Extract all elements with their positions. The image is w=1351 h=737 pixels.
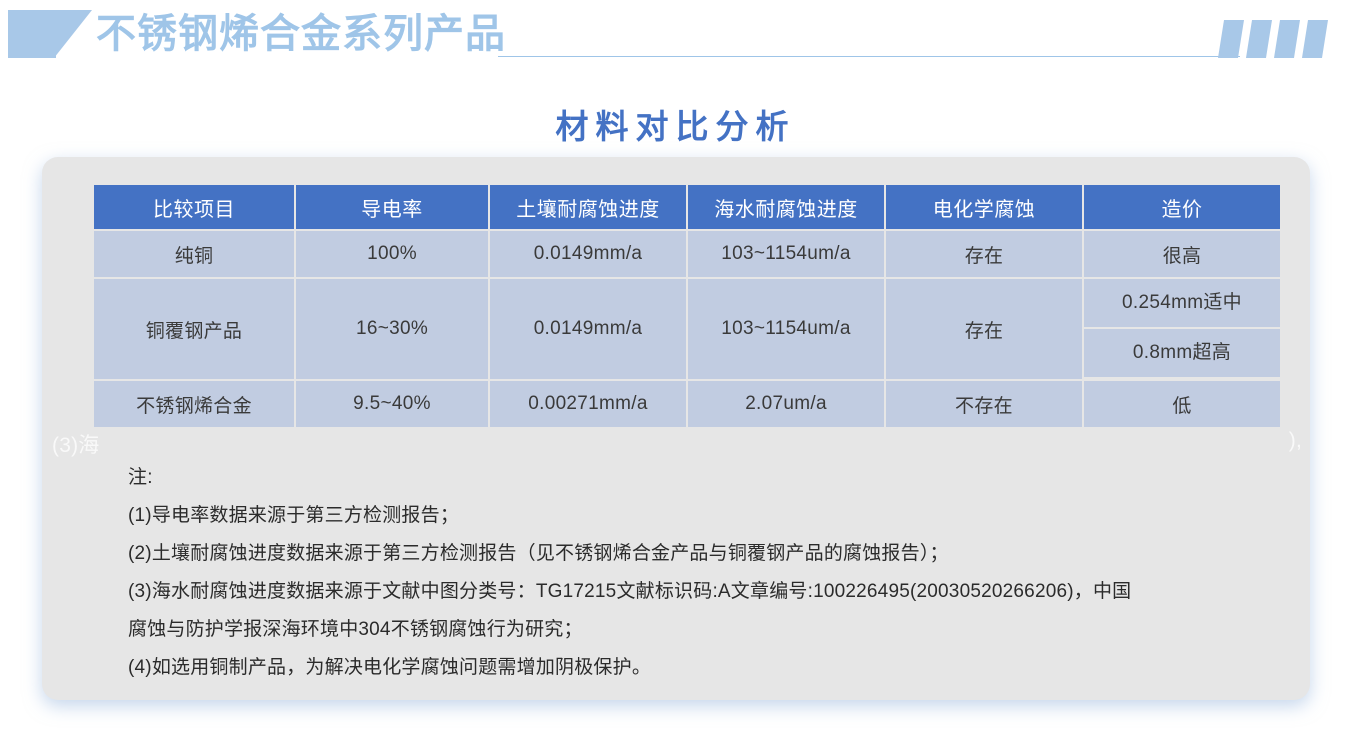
cell-conductivity: 100% (296, 231, 488, 277)
cell-soil: 0.00271mm/a (490, 381, 686, 427)
cell-conductivity: 9.5~40% (296, 381, 488, 427)
column-header-electro: 电化学腐蚀 (886, 185, 1082, 229)
cell-cost: 低 (1084, 381, 1280, 427)
cell-name: 铜覆钢产品 (94, 279, 294, 379)
header-underline (498, 56, 1240, 57)
decor-bar-4 (1302, 20, 1328, 58)
cell-seawater: 103~1154um/a (688, 231, 884, 277)
header-decor-bars (1221, 20, 1337, 58)
decor-bar-1 (1218, 20, 1244, 58)
watermark-left: (3)海 (52, 429, 99, 459)
cell-conductivity: 16~30% (296, 279, 488, 379)
note-item-1: (1)导电率数据来源于第三方检测报告； (128, 497, 1308, 535)
header-accent-wedge (54, 10, 92, 58)
table-row: 铜覆钢产品 16~30% 0.0149mm/a 103~1154um/a 存在 … (94, 279, 1280, 379)
column-header-cost: 造价 (1084, 185, 1280, 229)
note-item-2: (2)土壤耐腐蚀进度数据来源于第三方检测报告（见不锈钢烯合金产品与铜覆钢产品的腐… (128, 535, 1308, 573)
decor-bar-3 (1274, 20, 1300, 58)
note-item-4: (4)如选用铜制产品，为解决电化学腐蚀问题需增加阴极保护。 (128, 649, 1308, 687)
cell-soil: 0.0149mm/a (490, 279, 686, 379)
note-item-3-cont: 腐蚀与防护学报深海环境中304不锈钢腐蚀行为研究； (128, 611, 1308, 649)
cell-name: 纯铜 (94, 231, 294, 277)
page-header: 不锈钢烯合金系列产品 (0, 0, 1351, 80)
decor-bar-2 (1246, 20, 1272, 58)
cell-cost-split: 0.254mm适中 0.8mm超高 (1084, 279, 1280, 379)
header-accent-block (8, 10, 56, 58)
content-card: (3)海 ), 比较项目 导电率 土壤耐腐蚀进度 海水耐腐蚀进度 电化学腐蚀 造… (42, 157, 1310, 700)
notes-heading: 注: (128, 459, 1308, 497)
header-title: 不锈钢烯合金系列产品 (96, 8, 506, 60)
cell-seawater: 103~1154um/a (688, 279, 884, 379)
cell-soil: 0.0149mm/a (490, 231, 686, 277)
notes-section: 注: (1)导电率数据来源于第三方检测报告； (2)土壤耐腐蚀进度数据来源于第三… (128, 459, 1308, 687)
column-header-conductivity: 导电率 (296, 185, 488, 229)
cell-cost-option-a: 0.254mm适中 (1084, 279, 1280, 327)
table-header-row: 比较项目 导电率 土壤耐腐蚀进度 海水耐腐蚀进度 电化学腐蚀 造价 (94, 185, 1280, 229)
note-item-3: (3)海水耐腐蚀进度数据来源于文献中图分类号：TG17215文献标识码:A文章编… (128, 573, 1308, 611)
background-watermark: (3)海 ), (52, 429, 1302, 459)
column-header-soil: 土壤耐腐蚀进度 (490, 185, 686, 229)
table-row: 纯铜 100% 0.0149mm/a 103~1154um/a 存在 很高 (94, 231, 1280, 277)
column-header-seawater: 海水耐腐蚀进度 (688, 185, 884, 229)
comparison-table: 比较项目 导电率 土壤耐腐蚀进度 海水耐腐蚀进度 电化学腐蚀 造价 纯铜 100… (92, 183, 1282, 429)
cell-cost-option-b: 0.8mm超高 (1084, 329, 1280, 377)
cell-electro: 存在 (886, 231, 1082, 277)
watermark-right: ), (1289, 429, 1302, 459)
cell-electro: 不存在 (886, 381, 1082, 427)
cell-name: 不锈钢烯合金 (94, 381, 294, 427)
cell-electro: 存在 (886, 279, 1082, 379)
cell-cost: 很高 (1084, 231, 1280, 277)
column-header-item: 比较项目 (94, 185, 294, 229)
cell-seawater: 2.07um/a (688, 381, 884, 427)
page-title: 材料对比分析 (0, 100, 1351, 148)
table-row: 不锈钢烯合金 9.5~40% 0.00271mm/a 2.07um/a 不存在 … (94, 381, 1280, 427)
